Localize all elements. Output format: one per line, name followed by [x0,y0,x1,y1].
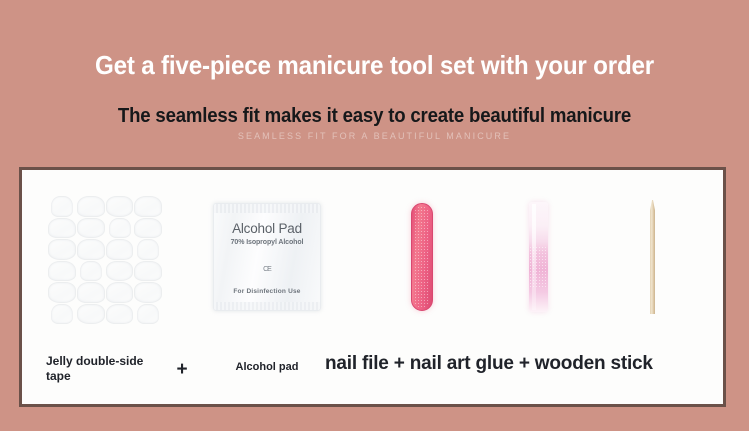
wooden-stick-body [650,200,655,314]
page-subtitle: The seamless fit makes it easy to create… [26,104,723,128]
jelly-tape-tab [51,304,73,325]
product-figures-row: Alcohol Pad 70% Isopropyl Alcohol CE For… [22,170,723,342]
glue-bottle-body [529,202,548,312]
jelly-tape-tab [77,218,105,239]
jelly-tape-tab [48,218,76,239]
jelly-tape-tab [48,239,76,260]
product-image-nail-art-glue [477,170,597,342]
sachet-title: Alcohol Pad [214,221,320,236]
sachet-footer: For Disinfection Use [214,288,320,295]
caption-tools-group: nail file + nail art glue + wooden stick [325,352,715,376]
jelly-tape-tab [48,282,76,303]
jelly-tape-tab [48,261,76,282]
jelly-tape-tab [106,282,134,303]
alcohol-pad-sachet: Alcohol Pad 70% Isopropyl Alcohol CE For… [213,203,321,311]
jelly-tape-tab [106,261,134,282]
jelly-tape-sheet [48,196,162,324]
jelly-tape-tab [134,261,162,282]
jelly-tape-tab [134,282,162,303]
nail-file-body [411,203,433,311]
jelly-tape-tab [77,282,105,303]
product-panel-inner: Alcohol Pad 70% Isopropyl Alcohol CE For… [22,170,723,404]
product-image-jelly-tape [40,170,170,342]
product-image-nail-file [362,170,482,342]
product-image-alcohol-pad: Alcohol Pad 70% Isopropyl Alcohol CE For… [204,170,334,342]
jelly-tape-tab [51,196,73,217]
jelly-tape-tab [77,196,105,217]
jelly-tape-tab [106,304,134,325]
ce-mark-icon: CE [214,266,320,273]
jelly-tape-tab [106,239,134,260]
product-image-wooden-stick [592,170,712,342]
product-panel: Alcohol Pad 70% Isopropyl Alcohol CE For… [19,167,726,407]
page-title: Get a five-piece manicure tool set with … [26,50,723,80]
jelly-tape-tab [80,261,102,282]
caption-jelly-tape: Jelly double-side tape [46,354,158,385]
jelly-tape-tab [106,196,134,217]
jelly-tape-tab [134,196,162,217]
promo-banner: Get a five-piece manicure tool set with … [0,0,749,431]
plus-separator-icon: + [170,358,194,382]
jelly-tape-tab [134,218,162,239]
jelly-tape-tab [77,239,105,260]
sachet-subtitle: 70% Isopropyl Alcohol [214,239,320,246]
jelly-tape-tab [77,304,105,325]
caption-alcohol-pad: Alcohol pad [207,360,327,374]
page-tagline: SEAMLESS FIT FOR A BEAUTIFUL MANICURE [0,131,749,141]
jelly-tape-tab [109,218,131,239]
jelly-tape-tab [137,304,159,325]
jelly-tape-tab [137,239,159,260]
product-captions-row: Jelly double-side tape + Alcohol pad nai… [22,342,723,404]
